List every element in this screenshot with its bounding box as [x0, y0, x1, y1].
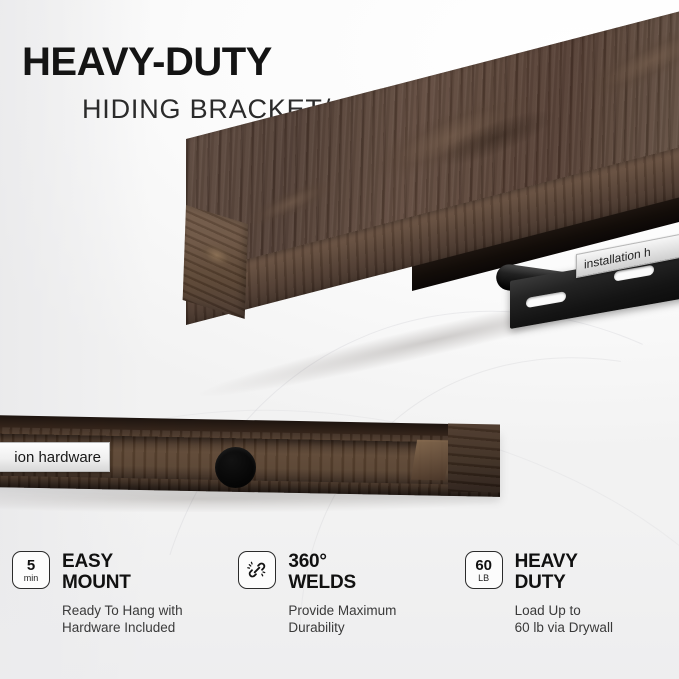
feature-header: 5 min EASY MOUNT [12, 551, 226, 594]
feature-header: 360° WELDS [238, 551, 452, 594]
lower-shelf-photo: ion hardware [0, 420, 510, 535]
wood-knot [200, 240, 233, 272]
badge-number: 5 [27, 558, 35, 573]
feature-easy-mount: 5 min EASY MOUNT Ready To Hang with Hard… [0, 551, 226, 671]
feature-description: Provide Maximum Durability [288, 602, 452, 637]
lower-shelf-mounting-hole [215, 447, 256, 488]
feature-title: HEAVY DUTY [515, 551, 578, 594]
lower-shelf-label: ion hardware [0, 442, 110, 472]
feature-description: Load Up to 60 lb via Drywall [515, 602, 679, 637]
lower-shelf-endcap [411, 440, 451, 481]
badge-number: 60 [475, 558, 492, 573]
feature-description: Ready To Hang with Hardware Included [62, 602, 226, 637]
badge-unit: min [24, 574, 39, 583]
feature-title: 360° WELDS [288, 551, 356, 594]
chain-link-icon [238, 551, 276, 589]
feature-360-welds: 360° WELDS Provide Maximum Durability [226, 551, 452, 671]
feature-list: 5 min EASY MOUNT Ready To Hang with Hard… [0, 551, 679, 671]
wood-knot [244, 171, 337, 234]
feature-title: EASY MOUNT [62, 551, 131, 594]
wood-knot [434, 99, 557, 177]
wood-knot [573, 8, 679, 114]
lower-shelf-label-text: ion hardware [14, 449, 101, 466]
shelf-end-grain [183, 205, 248, 319]
chain-link-glyph [246, 559, 268, 581]
wood-knot [363, 77, 539, 196]
badge-unit: LB [478, 574, 489, 583]
time-badge-icon: 5 min [12, 551, 50, 589]
bracket-screw-slot [526, 291, 566, 308]
feature-heavy-duty: 60 LB HEAVY DUTY Load Up to 60 lb via Dr… [453, 551, 679, 671]
weight-badge-icon: 60 LB [465, 551, 503, 589]
feature-header: 60 LB HEAVY DUTY [465, 551, 679, 594]
product-infographic: HEAVY-DUTY HIDING BRACKET/ACCESSORY inst… [0, 0, 679, 679]
lower-shelf-right-end [448, 424, 500, 493]
